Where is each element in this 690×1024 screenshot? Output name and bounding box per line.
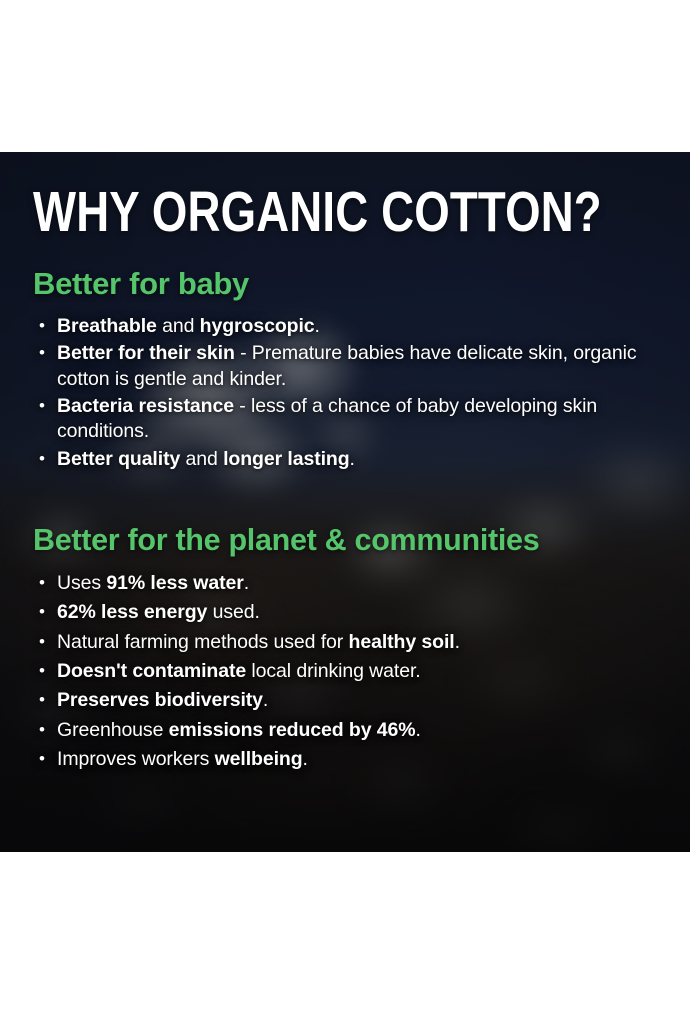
bullet-item: Better quality and longer lasting. (33, 447, 660, 472)
bullet-emphasis: longer lasting (223, 448, 349, 470)
bullet-emphasis: 91% less water (106, 572, 243, 594)
bullet-item: Preserves biodiversity. (33, 688, 660, 713)
bullet-item: Breathable and hygroscopic. (33, 314, 660, 339)
bullet-text: . (315, 315, 320, 337)
bullet-item: Greenhouse emissions reduced by 46%. (33, 718, 660, 743)
bullet-text: . (455, 631, 460, 653)
bullet-emphasis: 62% less energy (57, 601, 207, 623)
bullet-emphasis: wellbeing (215, 748, 303, 770)
bullet-item: Better for their skin - Premature babies… (33, 341, 660, 392)
bullet-emphasis: Breathable (57, 315, 157, 337)
section-heading-planet: Better for the planet & communities (33, 524, 660, 557)
bullet-item: Uses 91% less water. (33, 571, 660, 596)
bullet-text: Uses (57, 572, 106, 594)
bullet-text: . (263, 689, 268, 711)
bullet-item: 62% less energy used. (33, 600, 660, 625)
bullet-text: and (157, 315, 200, 337)
page-title: WHY ORGANIC COTTON? (33, 186, 535, 238)
bullet-emphasis: emissions reduced by 46% (169, 719, 416, 741)
bullet-text: used. (207, 601, 260, 623)
bullet-text: . (350, 448, 355, 470)
bullet-emphasis: Bacteria resistance (57, 395, 234, 417)
bullet-item: Bacteria resistance - less of a chance o… (33, 394, 660, 445)
section-better-for-planet: Better for the planet & communities Uses… (33, 524, 660, 772)
bullet-emphasis: Better for their skin (57, 342, 235, 364)
bullet-item: Natural farming methods used for healthy… (33, 630, 660, 655)
bullet-text: Natural farming methods used for (57, 631, 349, 653)
bullet-text: . (244, 572, 249, 594)
bullet-text: and (180, 448, 223, 470)
bullet-list-baby: Breathable and hygroscopic.Better for th… (33, 314, 660, 472)
infographic-panel: WHY ORGANIC COTTON? Better for baby Brea… (0, 152, 690, 852)
bullet-emphasis: Preserves biodiversity (57, 689, 263, 711)
infographic-content: WHY ORGANIC COTTON? Better for baby Brea… (0, 152, 690, 852)
bullet-text: . (416, 719, 421, 741)
bullet-text: Improves workers (57, 748, 215, 770)
bullet-text: Greenhouse (57, 719, 169, 741)
bullet-item: Doesn't contaminate local drinking water… (33, 659, 660, 684)
bullet-emphasis: healthy soil (349, 631, 455, 653)
section-better-for-baby: Better for baby Breathable and hygroscop… (33, 267, 660, 472)
bullet-text: local drinking water. (246, 660, 420, 682)
bullet-emphasis: hygroscopic (200, 315, 315, 337)
bullet-item: Improves workers wellbeing. (33, 747, 660, 772)
bullet-text: . (303, 748, 308, 770)
bullet-emphasis: Doesn't contaminate (57, 660, 246, 682)
bullet-emphasis: Better quality (57, 448, 180, 470)
bullet-list-planet: Uses 91% less water.62% less energy used… (33, 571, 660, 772)
section-heading-baby: Better for baby (33, 267, 660, 300)
page-root: WHY ORGANIC COTTON? Better for baby Brea… (0, 0, 690, 1024)
